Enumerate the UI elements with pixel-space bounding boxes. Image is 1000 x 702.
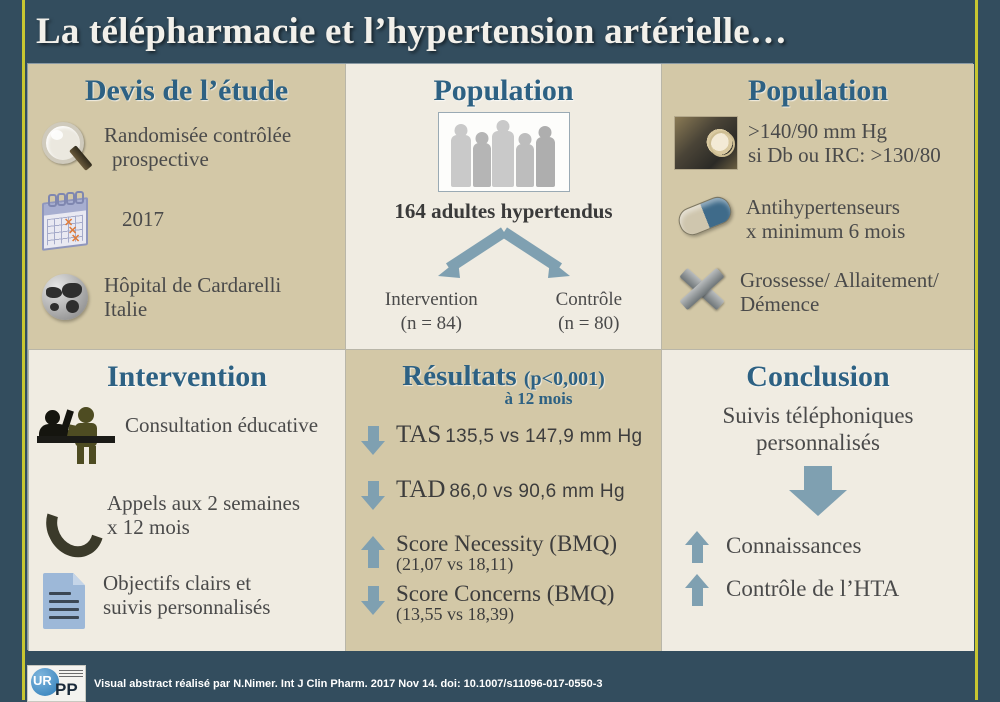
panel-conclusion-title: Conclusion xyxy=(662,360,974,394)
branch-labels: Intervention (n = 84) Contrôle (n = 80) xyxy=(346,288,661,336)
conclusion-outcome-control-text: Contrôle de l’HTA xyxy=(710,576,899,602)
intervention-item-calls: Appels aux 2 semaines x 12 mois xyxy=(37,488,345,544)
intervention-item-calls-text: Appels aux 2 semaines x 12 mois xyxy=(99,488,300,539)
split-arrow-svg xyxy=(346,226,661,288)
logo-text-bottom: PP xyxy=(55,680,78,700)
people-group-image xyxy=(438,112,570,192)
intervention-item-consult: Consultation éducative xyxy=(37,402,345,464)
criteria-item-bp-text: >140/90 mm Hg si Db ou IRC: >130/80 xyxy=(738,116,941,167)
left-rail xyxy=(22,0,25,700)
conclusion-outcome-knowledge-text: Connaissances xyxy=(710,533,861,559)
result-row-tas: TAS 135,5 vs 147,9 mm Hg xyxy=(360,421,661,460)
panel-intervention: Intervention Consultation éducative Appe… xyxy=(28,349,345,651)
intervention-item-goals: Objectifs clairs et suivis personnalisés xyxy=(37,570,345,634)
phone-icon xyxy=(37,488,99,544)
branch-intervention: Intervention (n = 84) xyxy=(385,288,478,336)
randomisation-split-arrows xyxy=(346,226,661,288)
citation-text: Visual abstract réalisé par N.Nimer. Int… xyxy=(94,678,603,690)
conclusion-outcome-knowledge: Connaissances xyxy=(684,526,974,565)
devis-item-year-text: 2017 xyxy=(96,190,164,232)
result-row-concerns-text: Score Concerns (BMQ) (13,55 vs 18,39) xyxy=(386,581,614,625)
panel-population-left-title: Population xyxy=(346,74,661,108)
panel-population-left: Population 164 adultes hypertendus Inter… xyxy=(345,64,661,349)
globe-icon xyxy=(38,268,96,330)
panel-conclusion: Conclusion Suivis téléphoniques personna… xyxy=(661,349,974,651)
intervention-item-consult-text: Consultation éducative xyxy=(117,402,318,438)
arrow-up-icon xyxy=(684,531,710,565)
arrow-down-icon xyxy=(360,481,386,515)
criteria-item-meds: Antihypertenseurs x minimum 6 mois xyxy=(674,192,974,243)
result-row-necessity: Score Necessity (BMQ) (21,07 vs 18,11) xyxy=(360,531,661,575)
population-count: 164 adultes hypertendus xyxy=(346,199,661,224)
branch-controle: Contrôle (n = 80) xyxy=(556,288,623,336)
conclusion-statement: Suivis téléphoniques personnalisés xyxy=(662,402,974,456)
panel-devis: Devis de l’étude Randomisée contrôlée pr… xyxy=(28,64,345,349)
conclusion-outcome-control: Contrôle de l’HTA xyxy=(684,569,974,608)
calendar-icon: ✕ ✕ ✕ xyxy=(38,190,96,252)
panel-devis-title: Devis de l’étude xyxy=(28,74,345,108)
resultats-pvalue: (p<0,001) xyxy=(524,368,605,390)
pill-capsule-icon xyxy=(674,192,736,238)
big-arrow-down-icon xyxy=(789,466,847,518)
criteria-item-exclusions: Grossesse/ Allaitement/ Démence xyxy=(674,265,974,316)
result-row-tas-text: TAS 135,5 vs 147,9 mm Hg xyxy=(386,421,642,449)
magnifier-icon xyxy=(38,118,96,180)
arrow-down-icon xyxy=(360,426,386,460)
title-band: La télépharmacie et l’hypertension artér… xyxy=(0,0,1000,62)
intervention-item-goals-text: Objectifs clairs et suivis personnalisés xyxy=(95,570,270,619)
panel-population-right-title: Population xyxy=(662,74,974,108)
devis-item-year: ✕ ✕ ✕ 2017 xyxy=(38,190,345,252)
consultation-icon xyxy=(37,402,117,464)
result-row-necessity-text: Score Necessity (BMQ) (21,07 vs 18,11) xyxy=(386,531,617,575)
result-row-tad: TAD 86,0 vs 90,6 mm Hg xyxy=(360,476,661,515)
devis-item-design-text: Randomisée contrôlée prospective xyxy=(96,118,291,171)
panel-grid: Devis de l’étude Randomisée contrôlée pr… xyxy=(27,63,973,650)
devis-item-design: Randomisée contrôlée prospective xyxy=(38,118,345,180)
urpp-logo: UR PP xyxy=(27,665,86,702)
logo-text-top: UR xyxy=(33,673,52,688)
criteria-item-exclusions-text: Grossesse/ Allaitement/ Démence xyxy=(730,265,939,316)
devis-item-site: Hôpital de Cardarelli Italie xyxy=(38,268,345,330)
document-icon xyxy=(37,570,95,634)
arrow-down-icon xyxy=(360,586,386,620)
devis-item-site-text: Hôpital de Cardarelli Italie xyxy=(96,268,281,321)
panel-intervention-title: Intervention xyxy=(29,360,345,394)
criteria-item-bp: >140/90 mm Hg si Db ou IRC: >130/80 xyxy=(674,116,974,170)
result-row-tad-text: TAD 86,0 vs 90,6 mm Hg xyxy=(386,476,625,504)
footer: UR PP Visual abstract réalisé par N.Nime… xyxy=(27,665,603,702)
right-rail xyxy=(975,0,978,700)
panel-population-right: Population >140/90 mm Hg si Db ou IRC: >… xyxy=(661,64,974,349)
x-exclusion-icon xyxy=(674,265,730,313)
page-title: La télépharmacie et l’hypertension artér… xyxy=(36,10,787,53)
arrow-up-icon xyxy=(360,536,386,570)
result-row-concerns: Score Concerns (BMQ) (13,55 vs 18,39) xyxy=(360,581,661,625)
criteria-item-meds-text: Antihypertenseurs x minimum 6 mois xyxy=(736,192,905,243)
blood-pressure-monitor-icon xyxy=(674,116,738,170)
arrow-up-icon xyxy=(684,574,710,608)
panel-resultats: Résultats (p<0,001) à 12 mois TAS 135,5 … xyxy=(345,349,661,651)
